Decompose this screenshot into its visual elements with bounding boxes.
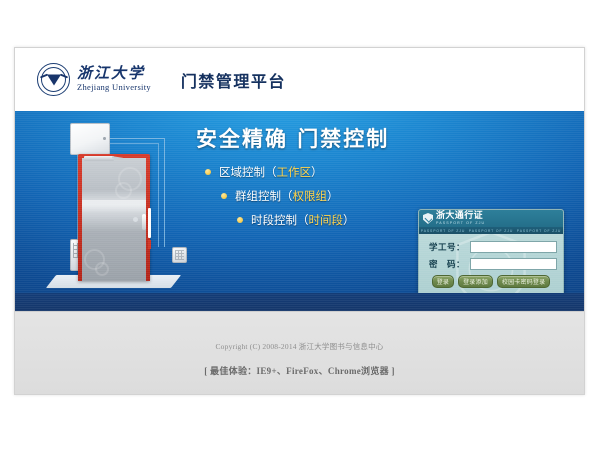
controller-led (103, 137, 106, 140)
feature-paren: 权限组 (293, 188, 328, 204)
door-closer (84, 156, 114, 161)
bullet-dot-icon (205, 169, 211, 175)
university-logo[interactable]: 浙江大学 Zhejiang University (37, 63, 151, 96)
wire-right-2 (158, 143, 159, 247)
login-panel-titles: 浙大通行证 PASSPORT OF ZJU (436, 212, 485, 226)
login-button-group: 登录 登录添加 校园卡密码登录 (419, 275, 563, 288)
site-footer: Copyright (C) 2008-2014 浙江大学图书与信息中心 [ 最佳… (15, 311, 584, 395)
page-container: 浙江大学 Zhejiang University 门禁管理平台 (14, 47, 585, 395)
password-input-wrap[interactable] (470, 258, 557, 270)
login-form: 学工号： 密 码： (419, 234, 563, 270)
feature-text: 时段控制（ (251, 212, 309, 228)
wire-top-2 (108, 143, 158, 144)
page-title: 门禁管理平台 (181, 68, 286, 92)
zju-seal-icon (37, 63, 70, 96)
seal-bird-icon (47, 75, 61, 86)
feature-close: ） (311, 164, 323, 180)
wire-right (164, 138, 165, 247)
password-label: 密 码： (425, 258, 465, 270)
gear-icon (95, 262, 109, 276)
password-field-row: 密 码： (425, 258, 557, 270)
login-title-cn: 浙大通行证 (436, 212, 485, 221)
feature-text: 群组控制（ (235, 188, 293, 204)
door-strike-indicator (148, 240, 151, 249)
university-name: 浙江大学 Zhejiang University (77, 66, 151, 94)
site-header: 浙江大学 Zhejiang University 门禁管理平台 (15, 48, 584, 111)
strip-text: PASSPORT OF ZJU (421, 229, 465, 233)
banner-feature-list: 区域控制（ 工作区 ） 群组控制（ 权限组 ） 时段控制（ 时间段 ） (205, 164, 355, 236)
login-decorative-strip: PASSPORT OF ZJU PASSPORT OF ZJU PASSPORT… (419, 227, 563, 234)
university-name-cn: 浙江大学 (77, 66, 151, 82)
login-add-button[interactable]: 登录添加 (458, 275, 493, 288)
door-lock-icon (133, 217, 138, 222)
username-field-row: 学工号： (425, 241, 557, 253)
bullet-dot-icon (221, 193, 227, 199)
list-item: 群组控制（ 权限组 ） (221, 188, 355, 204)
footer-copyright: Copyright (C) 2008-2014 浙江大学图书与信息中心 (15, 312, 584, 352)
password-input[interactable] (471, 265, 556, 275)
feature-close: ） (327, 188, 339, 204)
username-label: 学工号： (425, 241, 465, 253)
strip-text: PASSPORT OF ZJU (469, 229, 513, 233)
access-controller-box-icon (70, 123, 110, 155)
card-reader-icon (172, 247, 187, 263)
hero-banner: 安全精确 门禁控制 区域控制（ 工作区 ） 群组控制（ 权限组 ） 时段控制（ … (15, 111, 584, 311)
bullet-dot-icon (237, 217, 243, 223)
feature-paren: 时间段 (309, 212, 344, 228)
door-strike-plate (148, 208, 151, 238)
campus-card-login-button[interactable]: 校园卡密码登录 (497, 275, 550, 288)
gear-icon (115, 182, 132, 199)
access-control-illustration (48, 119, 218, 301)
login-title-en: PASSPORT OF ZJU (436, 222, 485, 226)
login-button[interactable]: 登录 (432, 275, 454, 288)
list-item: 时段控制（ 时间段 ） (237, 212, 355, 228)
strip-text: PASSPORT OF ZJU (517, 229, 561, 233)
banner-bottom-band (15, 293, 584, 311)
seal-wing-right (59, 74, 67, 79)
list-item: 区域控制（ 工作区 ） (205, 164, 355, 180)
feature-close: ） (343, 212, 355, 228)
university-name-en: Zhejiang University (77, 82, 151, 93)
shield-icon (423, 213, 433, 224)
login-panel-header: 浙大通行证 PASSPORT OF ZJU (419, 210, 563, 227)
feature-text: 区域控制（ (219, 164, 277, 180)
username-input[interactable] (471, 248, 556, 258)
username-input-wrap[interactable] (470, 241, 557, 253)
feature-paren: 工作区 (277, 164, 312, 180)
door-handle (142, 214, 146, 230)
door-frame (78, 154, 150, 281)
card-reader-keys (175, 250, 184, 260)
banner-headline: 安全精确 门禁控制 (196, 123, 389, 153)
wire-top (108, 138, 164, 139)
footer-browser-note: [ 最佳体验：IE9+、FireFox、Chrome浏览器 ] (15, 364, 584, 377)
